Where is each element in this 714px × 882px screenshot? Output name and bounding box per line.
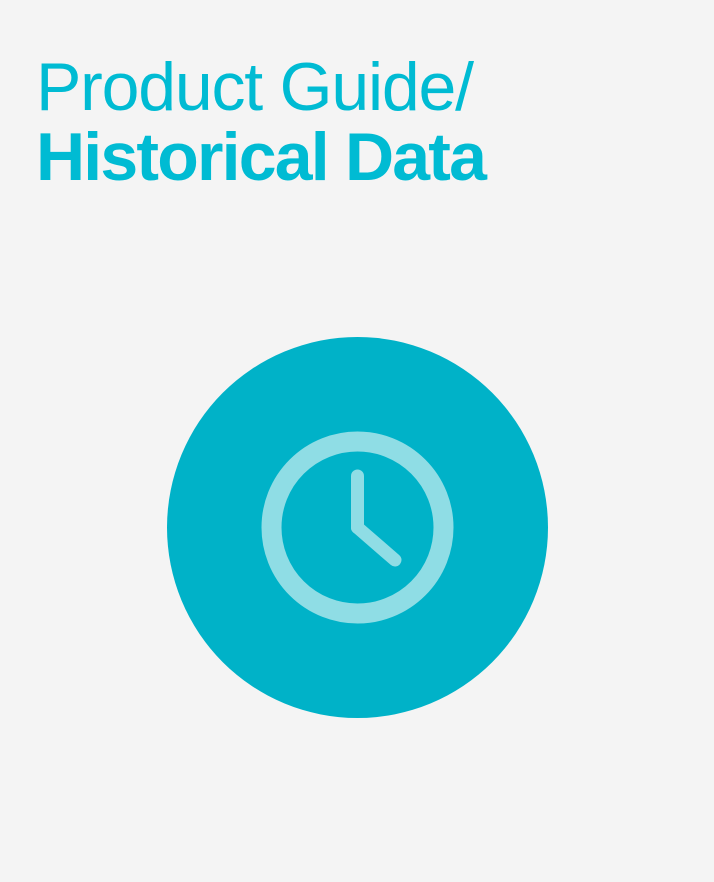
page-title: Product Guide/ Historical Data: [36, 52, 676, 192]
clock-icon: [167, 337, 548, 718]
page-title-line-historical-data: Historical Data: [36, 122, 676, 192]
product-guide-cover: Product Guide/ Historical Data: [0, 0, 714, 882]
page-title-line-product-guide: Product Guide/: [36, 52, 676, 122]
clock-icon-badge: [167, 337, 548, 718]
